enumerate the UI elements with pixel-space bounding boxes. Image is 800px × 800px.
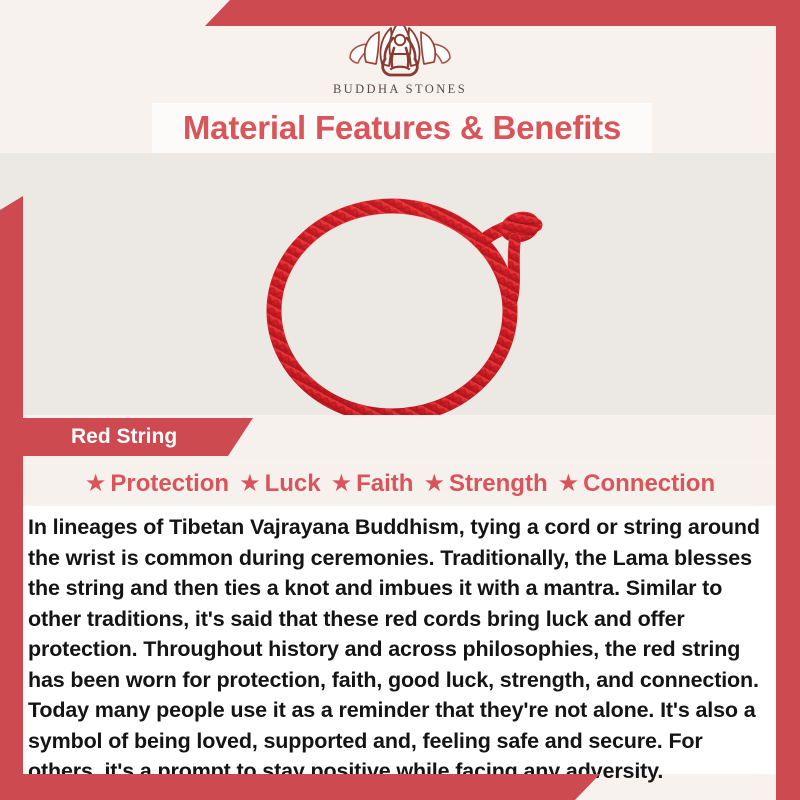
brand-wordmark: BUDDHA STONES (333, 82, 467, 97)
description-text: In lineages of Tibetan Vajrayana Buddhis… (28, 512, 762, 787)
bottom-red-border (0, 774, 620, 800)
feature-label: Faith (356, 472, 413, 496)
brand-logo: BUDDHA STONES (0, 14, 800, 104)
feature-item-connection: ★ Connection (553, 472, 721, 496)
material-tag-banner: Red String (23, 418, 253, 456)
feature-item-faith: ★ Faith (326, 472, 419, 496)
feature-item-luck: ★ Luck (234, 472, 326, 496)
feature-item-protection: ★ Protection (80, 472, 234, 496)
star-icon: ★ (331, 472, 353, 496)
right-red-border (776, 0, 800, 800)
star-icon: ★ (239, 472, 261, 496)
description-card: In lineages of Tibetan Vajrayana Buddhis… (23, 506, 776, 774)
feature-label: Protection (110, 472, 229, 496)
feature-list: ★ Protection ★ Luck ★ Faith ★ Strength ★… (23, 464, 777, 504)
star-icon: ★ (85, 472, 107, 496)
feature-label: Connection (583, 472, 715, 496)
red-braided-bracelet-image (220, 153, 580, 415)
left-red-border (0, 196, 23, 800)
star-icon: ★ (423, 472, 445, 496)
product-photo (0, 153, 800, 415)
page-title: Material Features & Benefits (183, 109, 621, 147)
material-tag-label: Red String (71, 425, 177, 449)
feature-label: Strength (449, 472, 548, 496)
infographic-page: BUDDHA STONES Material Features & Benefi… (0, 0, 800, 800)
feature-item-strength: ★ Strength (418, 472, 552, 496)
feature-label: Luck (265, 472, 321, 496)
star-icon: ★ (558, 472, 580, 496)
title-banner: Material Features & Benefits (152, 103, 652, 153)
